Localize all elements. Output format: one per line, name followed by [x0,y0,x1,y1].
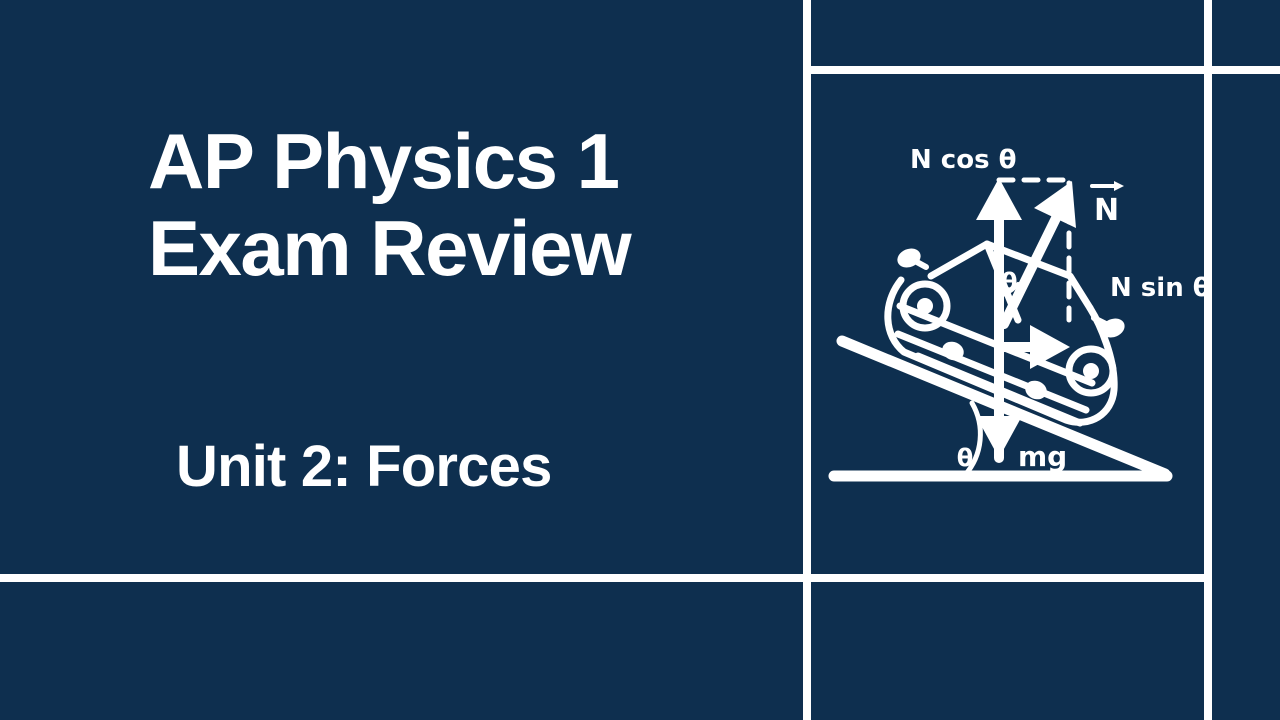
page-subtitle: Unit 2: Forces [176,434,796,501]
label-angle-upper: θ [1001,268,1018,296]
grid-line-horizontal-top [803,66,1280,74]
title-line-2: Exam Review [148,205,768,292]
slide-canvas: AP Physics 1 Exam Review Unit 2: Forces [0,0,1280,720]
label-normal-force: N [1094,193,1119,228]
physics-diagram: N cos θ N N sin θ θ θ mg [822,128,1204,510]
grid-line-vertical-left [803,0,811,720]
subtitle-text: Unit 2: Forces [176,434,796,501]
title-line-1: AP Physics 1 [148,118,768,205]
label-angle-incline: θ [957,444,974,472]
label-n-cos-theta: N cos θ [910,145,1016,175]
label-weight-mg: mg [1018,440,1067,473]
page-title: AP Physics 1 Exam Review [148,118,768,293]
label-n-sin-theta: N sin θ [1110,273,1204,303]
label-normal-force-vector-group: N [1092,181,1124,228]
n-sin-theta-vector-icon [999,325,1070,369]
grid-line-vertical-right [1204,0,1212,720]
grid-line-horizontal-bottom [0,574,1212,582]
